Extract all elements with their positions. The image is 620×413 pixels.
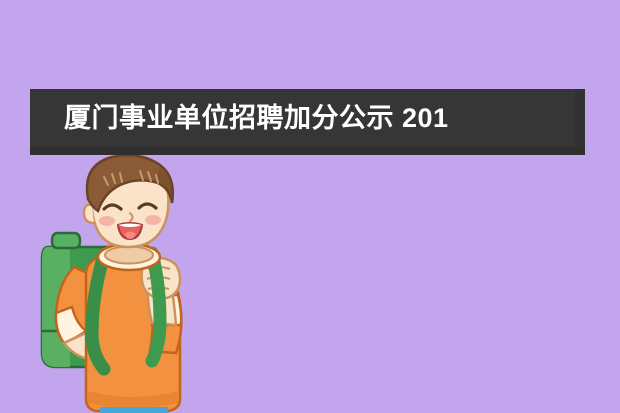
head-group	[84, 155, 173, 247]
title-banner: 厦门事业单位招聘加分公示 201	[30, 89, 585, 155]
student-with-backpack-icon	[0, 155, 260, 413]
banner-bottom-edge	[30, 147, 585, 155]
thumbnail-canvas: 厦门事业单位招聘加分公示 201	[0, 0, 620, 413]
page-title: 厦门事业单位招聘加分公示 201	[64, 89, 449, 147]
banner-right-edge	[575, 89, 585, 155]
student-illustration	[0, 155, 260, 413]
